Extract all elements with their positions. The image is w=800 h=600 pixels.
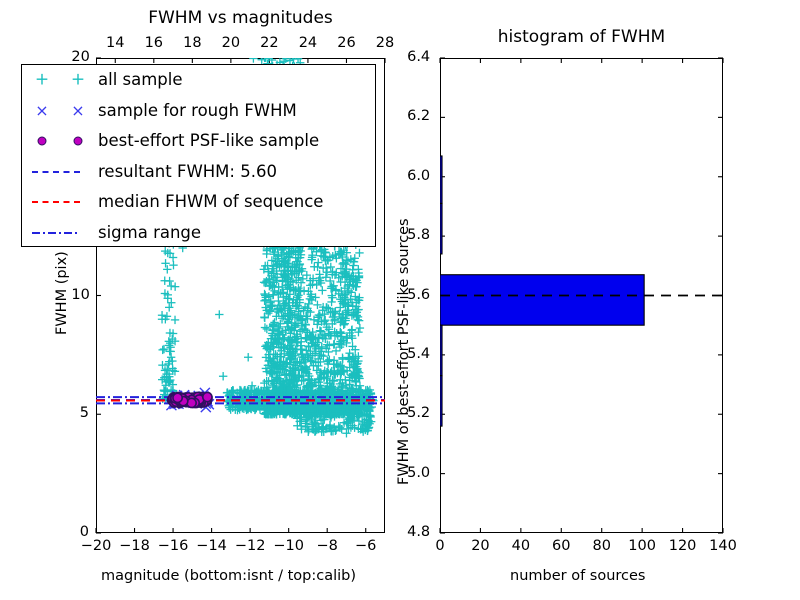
legend-item-resultant-fwhm: resultant FWHM: 5.60 [22, 157, 375, 188]
left-panel-top-tick-label: 14 [106, 35, 124, 51]
right-panel-axes [440, 58, 723, 533]
right-panel-y-tick-label: 5.0 [407, 465, 430, 481]
x-marker-icon: × [71, 103, 84, 119]
circle-marker-icon [74, 137, 83, 146]
right-panel-x-tick-label: 120 [669, 538, 697, 554]
left-panel-top-tick-label: 16 [145, 35, 163, 51]
left-panel-bottom-tick-label: −16 [158, 538, 189, 554]
right-panel-x-tick-label: 40 [512, 538, 530, 554]
right-panel-y-tick-label: 4.8 [407, 524, 430, 540]
left-panel-top-tick-label: 20 [222, 35, 240, 51]
legend-label: best-effort PSF-like sample [98, 133, 319, 150]
plus-marker-icon: + [71, 72, 85, 89]
left-panel-bottom-tick-label: −20 [81, 538, 112, 554]
right-panel-x-tick-label: 20 [471, 538, 489, 554]
left-panel-y-tick-label: 10 [71, 287, 89, 303]
left-panel-top-tick-label: 18 [183, 35, 201, 51]
right-panel-y-tick-label: 6.0 [407, 168, 430, 184]
right-panel-x-tick-label: 100 [628, 538, 656, 554]
right-panel-x-tick-label: 80 [592, 538, 610, 554]
left-panel-bottom-tick-label: −6 [355, 538, 376, 554]
legend-handle-median-fwhm [22, 187, 98, 217]
left-panel-xlabel: magnitude (bottom:isnt / top:calib) [101, 568, 356, 584]
right-panel-title: histogram of FWHM [440, 27, 723, 47]
left-panel-bottom-tick-label: −14 [196, 538, 227, 554]
left-panel-top-tick-label: 28 [376, 35, 394, 51]
left-panel-bottom-tick-label: −10 [273, 538, 304, 554]
legend-item-psf-like: best-effort PSF-like sample [22, 126, 375, 157]
left-panel-title: FWHM vs magnitudes [96, 8, 385, 28]
right-panel-y-tick-label: 6.2 [407, 108, 430, 124]
legend-item-all-sample: + + all sample [22, 65, 375, 96]
legend-handle-resultant-fwhm [22, 157, 98, 187]
left-panel-top-tick-label: 24 [299, 35, 317, 51]
legend-handle-rough-fwhm: × × [22, 96, 98, 126]
left-panel-bottom-tick-label: −8 [317, 538, 338, 554]
legend-label: sigma range [98, 225, 201, 242]
left-panel-y-tick-label: 0 [80, 524, 89, 540]
legend-item-rough-fwhm: × × sample for rough FWHM [22, 96, 375, 127]
legend-item-median-fwhm: median FHWM of sequence [22, 187, 375, 218]
left-panel-bottom-tick-label: −12 [235, 538, 266, 554]
right-panel-y-tick-label: 5.2 [407, 405, 430, 421]
legend-handle-psf-like [22, 126, 98, 156]
right-panel-y-tick-label: 5.4 [407, 346, 430, 362]
dashed-line-icon [32, 201, 80, 203]
dashed-line-icon [32, 171, 80, 173]
legend-item-sigma-range: sigma range [22, 218, 375, 249]
left-panel-top-tick-label: 26 [337, 35, 355, 51]
left-panel-top-tick-label: 22 [260, 35, 278, 51]
right-panel-xlabel: number of sources [510, 568, 646, 584]
legend-label: sample for rough FWHM [98, 103, 297, 120]
left-panel-ylabel: FWHM (pix) [54, 251, 70, 335]
legend-handle-all-sample: + + [22, 65, 98, 95]
left-panel-y-tick-label: 20 [71, 49, 89, 65]
right-panel-y-tick-label: 5.6 [407, 287, 430, 303]
matplotlib-figure: FWHM vs magnitudes FWHM (pix) magnitude … [0, 0, 800, 600]
right-panel-y-tick-label: 5.8 [407, 227, 430, 243]
dashdot-line-icon [30, 223, 86, 243]
right-panel-x-tick-label: 60 [552, 538, 570, 554]
circle-marker-icon [38, 137, 47, 146]
plus-marker-icon: + [35, 72, 49, 89]
left-panel-y-tick-label: 5 [80, 405, 89, 421]
legend: + + all sample × × sample for rough FWHM… [21, 64, 376, 247]
right-panel-x-tick-label: 0 [435, 538, 444, 554]
x-marker-icon: × [35, 103, 48, 119]
legend-label: all sample [98, 72, 183, 89]
left-panel-bottom-tick-label: −18 [119, 538, 150, 554]
legend-label: median FHWM of sequence [98, 194, 323, 211]
legend-label: resultant FWHM: 5.60 [98, 164, 277, 181]
right-panel-x-tick-label: 140 [709, 538, 737, 554]
legend-handle-sigma-range [22, 218, 98, 248]
right-panel-y-tick-label: 6.4 [407, 49, 430, 65]
